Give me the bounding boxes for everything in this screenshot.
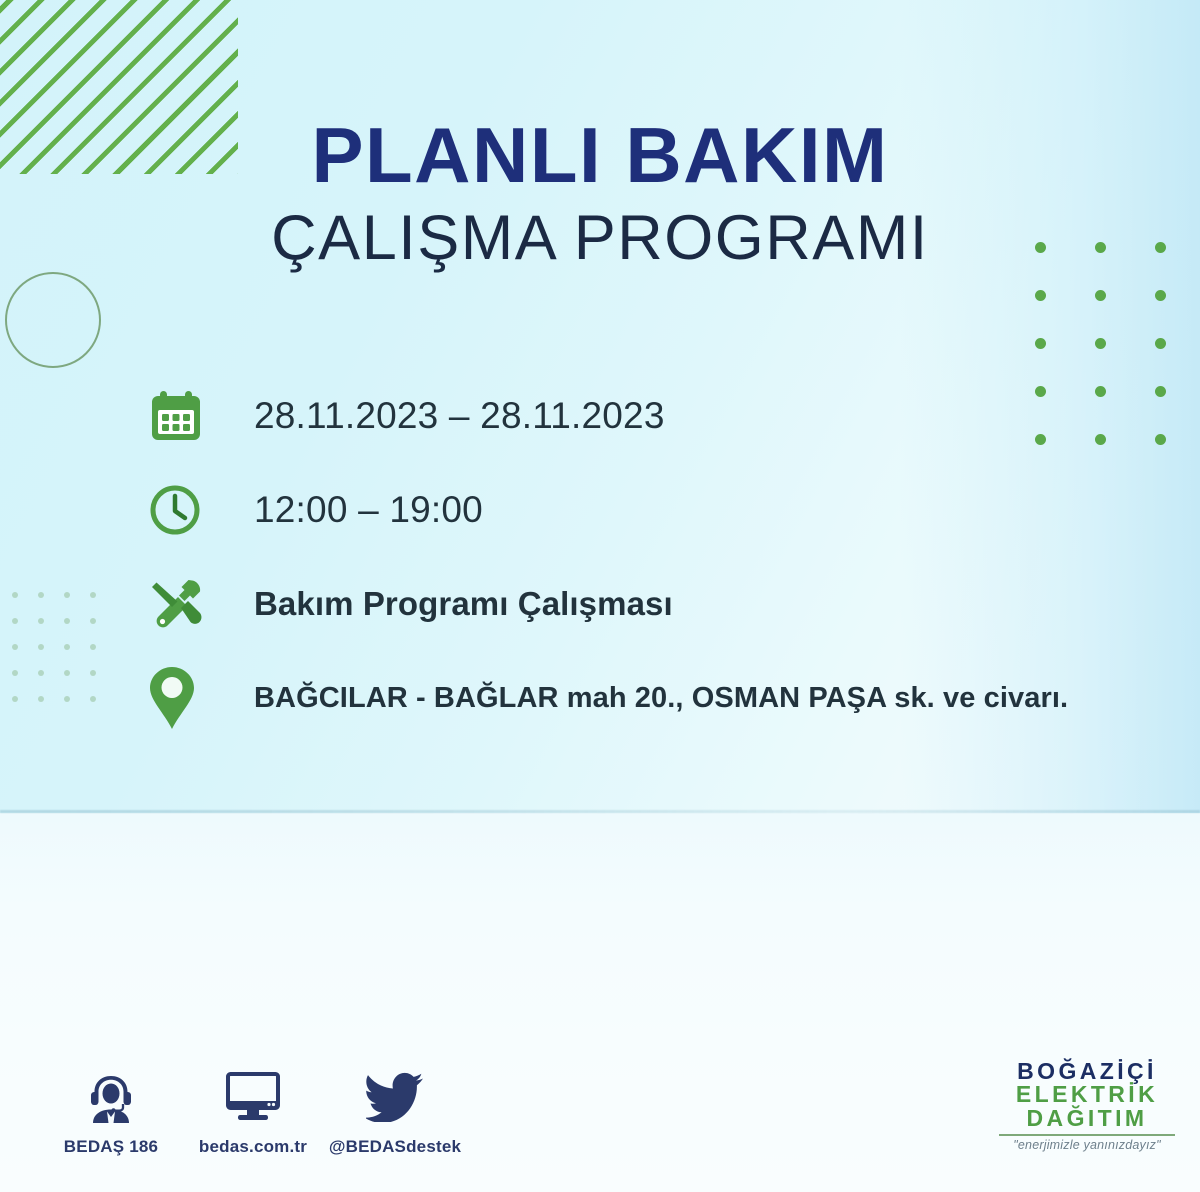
detail-value-time: 12:00 – 19:00 <box>254 489 483 531</box>
detail-value-date: 28.11.2023 – 28.11.2023 <box>254 395 665 437</box>
contact-call-center[interactable]: BEDAŞ 186 <box>40 1068 182 1157</box>
calendar-icon <box>148 385 210 447</box>
logo-divider <box>999 1134 1175 1136</box>
logo-line-bogazici: BOĞAZİÇİ <box>992 1060 1182 1083</box>
twitter-bird-icon <box>324 1068 466 1126</box>
planned-maintenance-poster: PLANLI BAKIM ÇALIŞMA PROGRAMI <box>0 0 1200 1192</box>
contact-website[interactable]: bedas.com.tr <box>182 1068 324 1157</box>
logo-line-dagitim: DAĞITIM <box>992 1107 1182 1130</box>
detail-row-work: Bakım Programı Çalışması <box>148 566 1158 642</box>
detail-row-date: 28.11.2023 – 28.11.2023 <box>148 378 1158 454</box>
title-subtitle: ÇALIŞMA PROGRAMI <box>0 202 1200 274</box>
dot-grid-left-decoration <box>0 592 116 722</box>
contact-label-twitter: @BEDASdestek <box>324 1137 466 1157</box>
clock-icon <box>148 479 210 541</box>
bedas-logo: BOĞAZİÇİ ELEKTRİK DAĞITIM "enerjimizle y… <box>992 1060 1182 1152</box>
logo-tagline: "enerjimizle yanınızdayız" <box>992 1139 1182 1152</box>
title-main: PLANLI BAKIM <box>0 116 1200 194</box>
circle-outline-decoration <box>5 272 101 368</box>
logo-line-elektrik: ELEKTRİK <box>992 1083 1182 1106</box>
map-pin-icon <box>148 667 210 729</box>
monitor-icon <box>182 1068 324 1126</box>
footer-contacts: BEDAŞ 186 bedas.com.tr @B <box>40 1068 466 1157</box>
detail-value-work: Bakım Programı Çalışması <box>254 585 673 623</box>
tools-icon <box>148 573 210 635</box>
detail-value-location: BAĞCILAR - BAĞLAR mah 20., OSMAN PAŞA sk… <box>254 682 1068 715</box>
headset-support-icon <box>40 1068 182 1126</box>
contact-twitter[interactable]: @BEDASdestek <box>324 1068 466 1157</box>
contact-label-website: bedas.com.tr <box>182 1137 324 1157</box>
contact-label-call-center: BEDAŞ 186 <box>40 1137 182 1157</box>
panel-divider-line <box>0 810 1200 813</box>
page-title: PLANLI BAKIM ÇALIŞMA PROGRAMI <box>0 116 1200 274</box>
details-list: 28.11.2023 – 28.11.2023 12:00 – 19:00 <box>148 378 1158 736</box>
detail-row-time: 12:00 – 19:00 <box>148 472 1158 548</box>
detail-row-location: BAĞCILAR - BAĞLAR mah 20., OSMAN PAŞA sk… <box>148 660 1158 736</box>
